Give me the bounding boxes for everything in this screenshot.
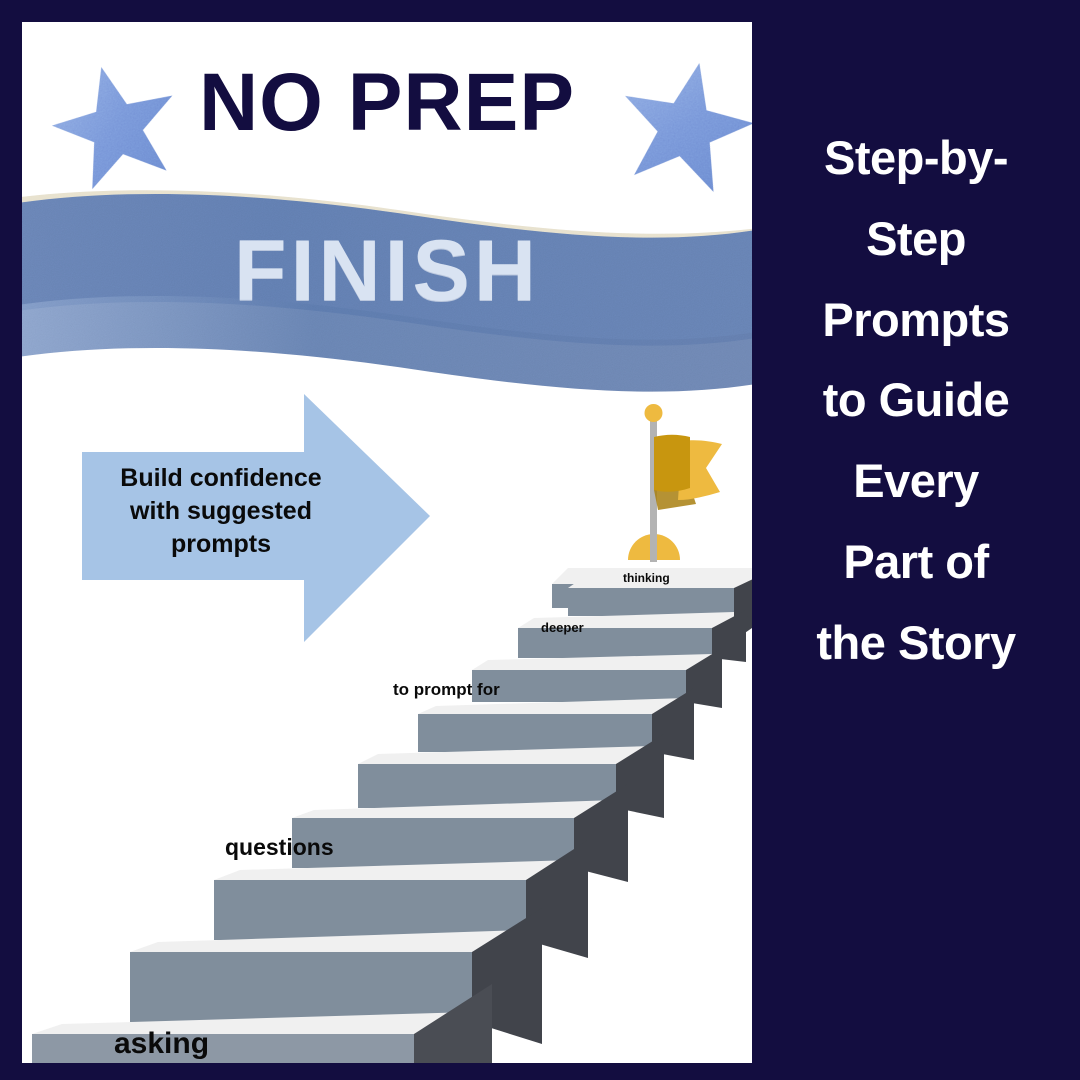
side-title-line-7: the Story: [752, 603, 1080, 684]
poster-card: NO PREP: [22, 22, 752, 1063]
arrow-line-1: Build confidence: [120, 464, 321, 492]
step-label-asking: asking: [114, 1027, 209, 1061]
side-title-line-1: Step-by-: [752, 118, 1080, 199]
side-title-line-6: Part of: [752, 522, 1080, 603]
poster-root: NO PREP: [0, 0, 1080, 1080]
step-label-thinking: thinking: [623, 571, 670, 585]
side-title-line-5: Every: [752, 441, 1080, 522]
side-title-line-4: to Guide: [752, 360, 1080, 441]
headline-no-prep: NO PREP: [22, 62, 752, 144]
step-label-questions: questions: [225, 834, 334, 861]
side-title-line-3: Prompts: [752, 280, 1080, 361]
side-panel-title: Step-by- Step Prompts to Guide Every Par…: [752, 118, 1080, 684]
side-panel: Step-by- Step Prompts to Guide Every Par…: [752, 0, 1080, 1080]
arrow-line-2: with suggested: [130, 497, 312, 525]
arrow-line-3: prompts: [171, 530, 271, 558]
step-label-deeper: deeper: [541, 620, 584, 635]
arrow-callout-text: Build confidence with suggested prompts: [86, 462, 356, 561]
step-label-to-prompt-for: to prompt for: [393, 680, 500, 700]
side-title-line-2: Step: [752, 199, 1080, 280]
